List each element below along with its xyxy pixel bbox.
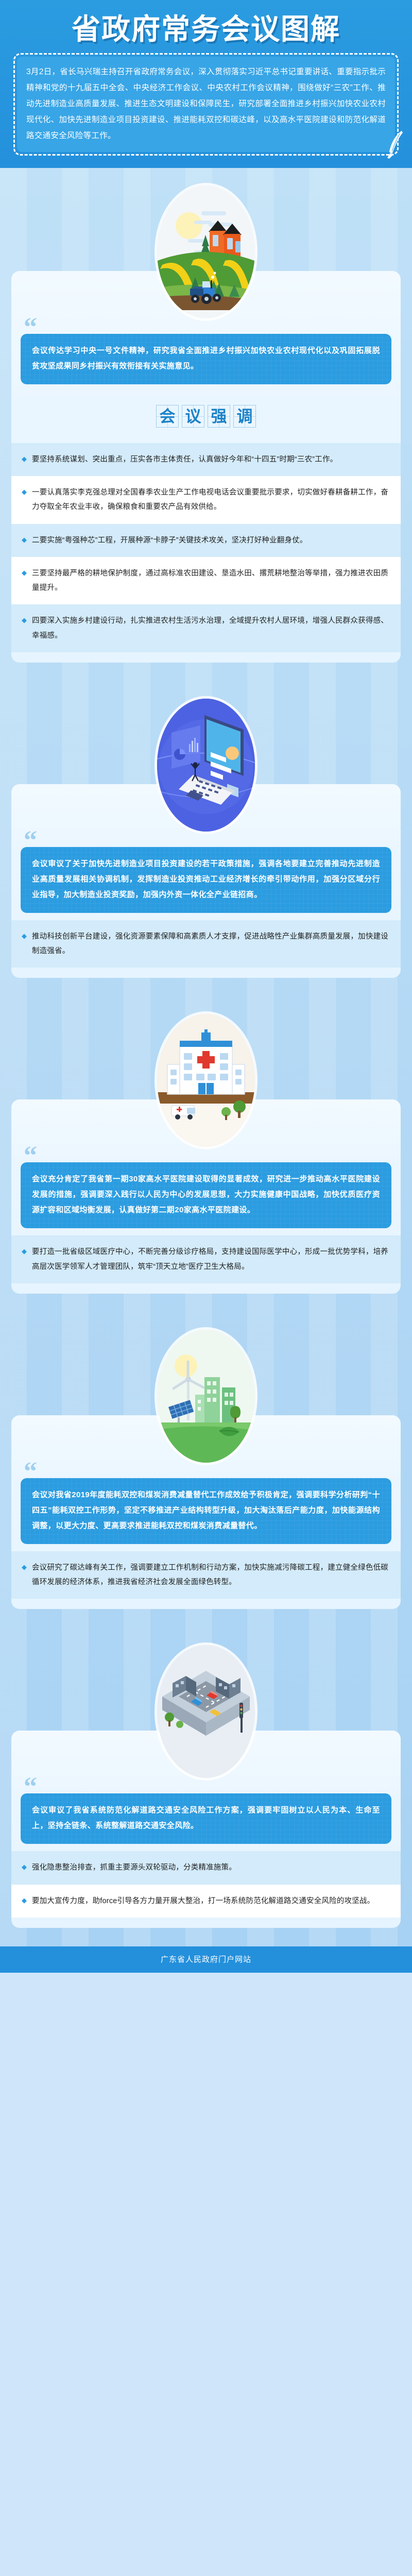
page-header: 省政府常务会议图解 3月2日，省长马兴瑞主持召开省政府常务会议，深入贯彻落实习近…: [0, 0, 412, 168]
section-gap: [0, 668, 412, 681]
list-item: ◆ 推动科技创新平台建设，强化资源要素保障和高素质人才支撑，促进战略性产业集群高…: [11, 920, 401, 968]
section-hospital: “ 会议充分肯定了我省第一期30家高水平医院建设取得的显著成效，研究进一步推动高…: [0, 996, 412, 1299]
list-item-text: 强化隐患整治排查，抓重主要源头双轮驱动，分类精准施策。: [32, 1860, 236, 1875]
bullet-list-traffic: ◆ 强化隐患整治排查，抓重主要源头双轮驱动，分类精准施策。 ◆ 要加大宣传力度，…: [11, 1851, 401, 1918]
quote-mark-icon: “: [24, 832, 36, 850]
quote-text: 会议审议了关于加快先进制造业项目投资建设的若干政策措施，强调各地要建立完善推动先…: [32, 856, 380, 903]
diamond-bullet-icon: ◆: [22, 533, 27, 546]
list-item: ◆ 二要实施“粤强种芯”工程，开展种源“卡脖子”关键技术攻关，坚决打好种业翻身仗…: [11, 524, 401, 557]
page-body: “ 会议传达学习中央一号文件精神，研究我省全面推进乡村振兴加快农业农村现代化以及…: [0, 168, 412, 1946]
illustration-wrap: [0, 1312, 412, 1415]
bullet-list-hospital: ◆ 要打造一批省级区域医疗中心，不断完善分级诊疗格局，支持建设国际医学中心，形成…: [11, 1235, 401, 1283]
quote-rural: “ 会议传达学习中央一号文件精神，研究我省全面推进乡村振兴加快农业农村现代化以及…: [21, 320, 391, 384]
list-item: ◆ 四要深入实施乡村建设行动，扎实推进农村生活污水治理，全域提升农村人居环境，增…: [11, 604, 401, 652]
diamond-bullet-icon: ◆: [22, 485, 27, 498]
bullet-list-rural: ◆ 要坚持系统谋划、突出重点，压实各市主体责任，认真做好今年和“十四五”时期“三…: [11, 443, 401, 652]
list-item-text: 四要深入实施乡村建设行动，扎实推进农村生活污水治理，全域提升农村人居环境，增强人…: [32, 614, 388, 643]
bullet-list-energy: ◆ 会议研究了碳达峰有关工作，强调要建立工作机制和行动方案，加快实施减污降碳工程…: [11, 1551, 401, 1599]
farm-village-tractor-illustration: [157, 185, 255, 318]
page-footer: 广东省人民政府门户网站: [0, 1946, 412, 1973]
list-item: ◆ 三要坚持最严格的耕地保护制度，通过高标准农田建设、垦造水田、撂荒耕地整治等举…: [11, 557, 401, 605]
quote-hospital: “ 会议充分肯定了我省第一期30家高水平医院建设取得的显著成效，研究进一步推动高…: [21, 1149, 391, 1228]
infographic-page: 省政府常务会议图解 3月2日，省长马兴瑞主持召开省政府常务会议，深入贯彻落实习近…: [0, 0, 412, 1973]
quote-mark-icon: “: [24, 1463, 36, 1481]
list-item-text: 一要认真落实李克强总理对全国春季农业生产工作电视电话会议重要批示要求，切实做好春…: [32, 485, 388, 515]
section-gap: [0, 1933, 412, 1946]
list-item-text: 二要实施“粤强种芯”工程，开展种源“卡脖子”关键技术攻关，坚决打好种业翻身仗。: [32, 533, 307, 548]
list-item-text: 推动科技创新平台建设，强化资源要素保障和高素质人才支撑，促进战略性产业集群高质量…: [32, 929, 388, 959]
diamond-bullet-icon: ◆: [22, 1561, 27, 1573]
section-gap: [0, 1614, 412, 1628]
list-item-text: 会议研究了碳达峰有关工作，强调要建立工作机制和行动方案，加快实施减污降碳工程，建…: [32, 1561, 388, 1590]
list-item: ◆ 要坚持系统谋划、突出重点，压实各市主体责任，认真做好今年和“十四五”时期“三…: [11, 443, 401, 476]
quote-mark-icon: “: [24, 1147, 36, 1165]
city-road-traffic-illustration: [157, 1645, 255, 1778]
quote-text: 会议传达学习中央一号文件精神，研究我省全面推进乡村振兴加快农业农村现代化以及巩固…: [32, 343, 380, 374]
illustration-wrap: [0, 168, 412, 271]
section-gap: [0, 1299, 412, 1312]
intro-text: 3月2日，省长马兴瑞主持召开省政府常务会议，深入贯彻落实习近平总书记重要讲话、重…: [26, 64, 386, 144]
list-item: ◆ 要打造一批省级区域医疗中心，不断完善分级诊疗格局，支持建设国际医学中心，形成…: [11, 1235, 401, 1283]
list-item-text: 要打造一批省级区域医疗中心，不断完善分级诊疗格局，支持建设国际医学中心，形成一批…: [32, 1245, 388, 1274]
diamond-bullet-icon: ◆: [22, 1245, 27, 1258]
quote-text: 会议审议了我省系统防范化解道路交通安全风险工作方案，强调要牢固树立以人民为本、生…: [32, 1803, 380, 1834]
diamond-bullet-icon: ◆: [22, 452, 27, 465]
diamond-bullet-icon: ◆: [22, 1894, 27, 1907]
quote-text: 会议对我省2019年度能耗双控和煤炭消费减量替代工作成效给予积极肯定，强调要科学…: [32, 1487, 380, 1534]
quote-mark-icon: “: [24, 1778, 36, 1797]
section-energy: “ 会议对我省2019年度能耗双控和煤炭消费减量替代工作成效给予积极肯定，强调要…: [0, 1312, 412, 1615]
intro-box: 3月2日，省长马兴瑞主持召开省政府常务会议，深入贯彻落实习近平总书记重要讲话、重…: [13, 53, 399, 156]
emphasis-char: 议: [182, 405, 204, 428]
section-manufacturing: “ 会议审议了关于加快先进制造业项目投资建设的若干政策措施，强调各地要建立完善推…: [0, 681, 412, 984]
diamond-bullet-icon: ◆: [22, 614, 27, 626]
emphasis-char: 会: [156, 405, 179, 428]
emphasis-char: 强: [208, 405, 230, 428]
card-rural: “ 会议传达学习中央一号文件精神，研究我省全面推进乡村振兴加快农业农村现代化以及…: [11, 271, 401, 663]
green-energy-city-illustration: [157, 1330, 255, 1463]
illustration-wrap: [0, 681, 412, 784]
list-item-text: 三要坚持最严格的耕地保护制度，通过高标准农田建设、垦造水田、撂荒耕地整治等举措，…: [32, 566, 388, 596]
quote-energy: “ 会议对我省2019年度能耗双控和煤炭消费减量替代工作成效给予积极肯定，强调要…: [21, 1465, 391, 1544]
isometric-laptop-data-illustration: [157, 699, 255, 832]
page-title: 省政府常务会议图解: [0, 11, 412, 53]
section-rural: “ 会议传达学习中央一号文件精神，研究我省全面推进乡村振兴加快农业农村现代化以及…: [0, 168, 412, 668]
diamond-bullet-icon: ◆: [22, 566, 27, 579]
list-item: ◆ 强化隐患整治排查，抓重主要源头双轮驱动，分类精准施策。: [11, 1851, 401, 1884]
illustration-wrap: [0, 996, 412, 1099]
list-item: ◆ 会议研究了碳达峰有关工作，强调要建立工作机制和行动方案，加快实施减污降碳工程…: [11, 1551, 401, 1599]
quote-text: 会议充分肯定了我省第一期30家高水平医院建设取得的显著成效，研究进一步推动高水平…: [32, 1172, 380, 1218]
hospital-building-illustration: [157, 1014, 255, 1147]
footer-source-label: 广东省人民政府门户网站: [0, 1954, 412, 1964]
diamond-bullet-icon: ◆: [22, 1860, 27, 1873]
section-traffic: “ 会议审议了我省系统防范化解道路交通安全风险工作方案，强调要牢固树立以人民为本…: [0, 1628, 412, 1933]
emphasis-char: 调: [233, 405, 256, 428]
quote-manufacturing: “ 会议审议了关于加快先进制造业项目投资建设的若干政策措施，强调各地要建立完善推…: [21, 834, 391, 913]
quote-mark-icon: “: [24, 318, 36, 337]
list-item: ◆ 一要认真落实李克强总理对全国春季农业生产工作电视电话会议重要批示要求，切实做…: [11, 476, 401, 524]
list-item-text: 要加大宣传力度，助force引导各方力量开展大整治，打一场系统防范化解道路交通安…: [32, 1894, 374, 1908]
list-item: ◆ 要加大宣传力度，助force引导各方力量开展大整治，打一场系统防范化解道路交…: [11, 1885, 401, 1918]
bullet-list-manufacturing: ◆ 推动科技创新平台建设，强化资源要素保障和高素质人才支撑，促进战略性产业集群高…: [11, 920, 401, 968]
list-item-text: 要坚持系统谋划、突出重点，压实各市主体责任，认真做好今年和“十四五”时期“三农”…: [32, 452, 337, 467]
illustration-wrap: [0, 1628, 412, 1731]
section-gap: [0, 983, 412, 996]
emphasis-heading: 会议强调: [11, 392, 401, 443]
quote-traffic: “ 会议审议了我省系统防范化解道路交通安全风险工作方案，强调要牢固树立以人民为本…: [21, 1780, 391, 1844]
diamond-bullet-icon: ◆: [22, 929, 27, 942]
